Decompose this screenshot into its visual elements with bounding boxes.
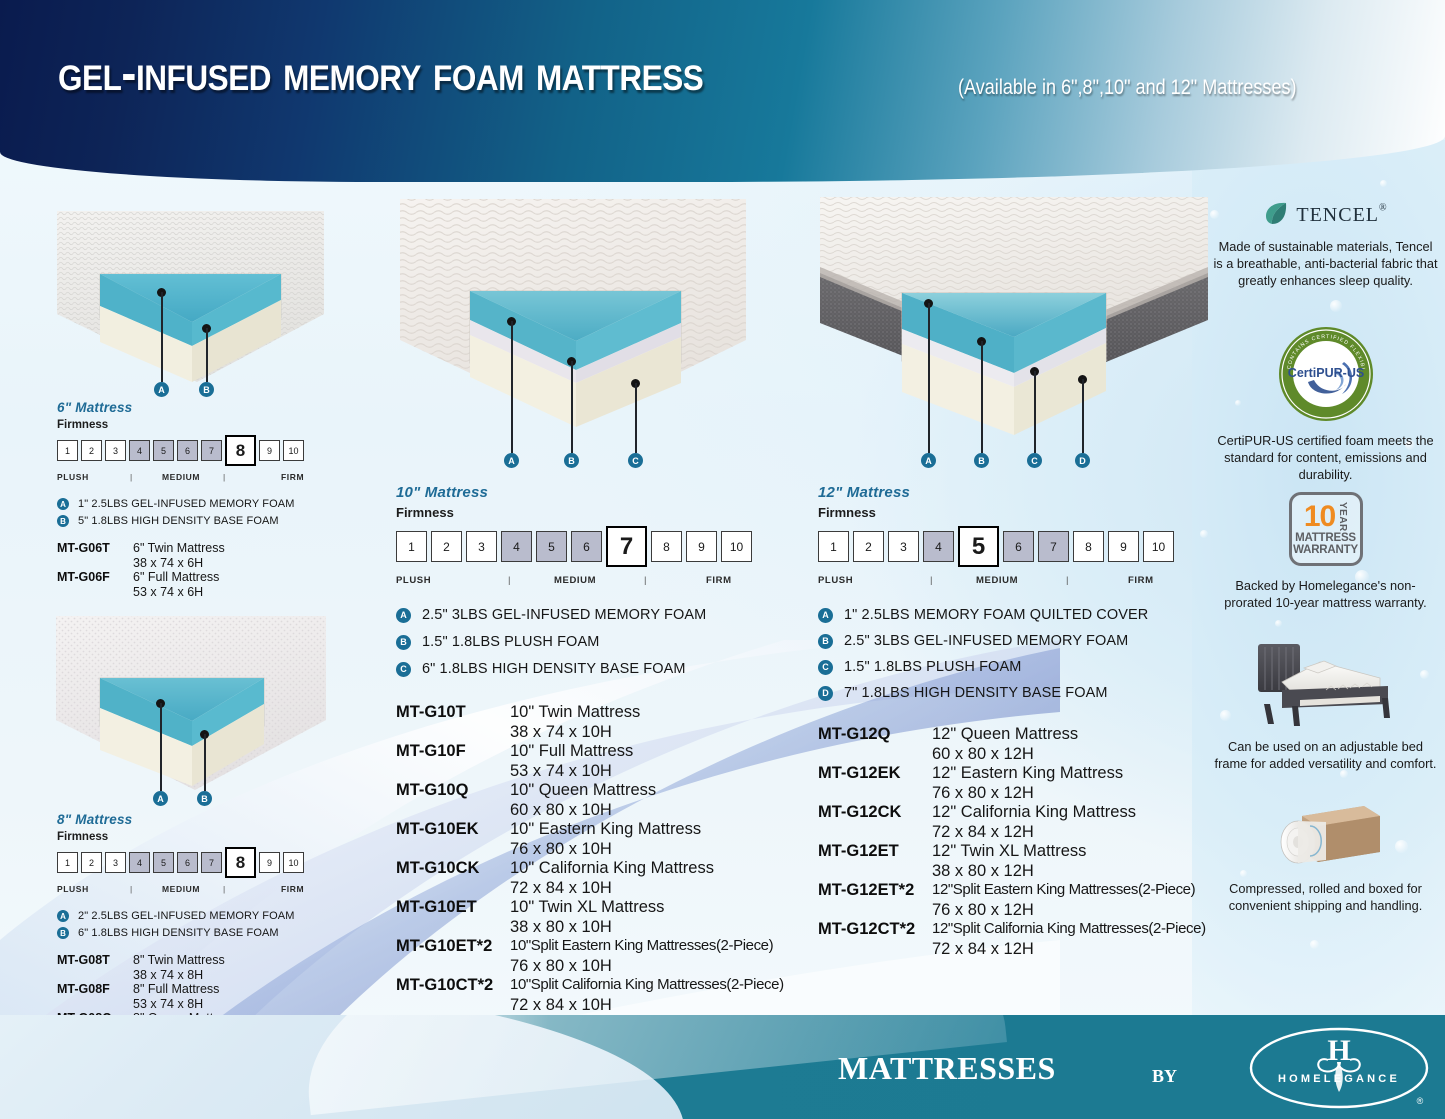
firmness-label-10: Firmness [396,505,796,520]
firmness-box-5[interactable]: 5 [153,440,174,461]
sku-desc: 10"Split California King Mattresses(2-Pi… [510,976,784,995]
table-row: MT-G10CK 10" California King Mattress [396,859,796,878]
legend-tick-1: | [130,884,133,894]
callouts-8: A B [52,608,330,823]
callouts-12: A B C D [818,195,1210,475]
adjustable-bed-image [1240,638,1412,730]
footer-by-label: by [1152,1059,1177,1089]
sku-dimensions: 72 x 84 x 12H [932,823,1218,842]
firmness-box-10[interactable]: 10 [283,440,304,461]
legend-firm: FIRM [1128,575,1154,586]
firmness-label-8: Firmness [57,831,357,843]
sku-dimensions: 76 x 80 x 12H [932,784,1218,803]
firmness-scale-8[interactable]: 1 2 3 4 5 6 7 8 9 10 [57,847,357,878]
sku-desc: 12" Queen Mattress [932,725,1078,744]
legend-plush: PLUSH [57,884,89,894]
layer-text: 1.5" 1.8LBS PLUSH FOAM [422,634,599,650]
layer-badge-c-icon: C [818,660,833,675]
sku-code: MT-G10CT*2 [396,976,510,995]
layer-text: 2.5" 3LBS GEL-INFUSED MEMORY FOAM [844,633,1128,649]
sku-dimensions: 60 x 80 x 10H [510,801,796,820]
sku-code: MT-G10EK [396,820,510,839]
sku-dimensions: 60 x 80 x 12H [932,745,1218,764]
firmness-box-1[interactable]: 1 [396,531,427,562]
sku-code: MT-G06F [57,570,133,584]
layer-list-6: A 1" 2.5LBS GEL-INFUSED MEMORY FOAM B 5"… [57,498,357,527]
sku-code: MT-G10T [396,703,510,722]
sku-desc: 12"Split Eastern King Mattresses(2-Piece… [932,881,1195,900]
legend-tick-1: | [930,575,933,586]
layer-row: B 6" 1.8LBS HIGH DENSITY BASE FOAM [57,927,357,939]
layer-badge-d-icon: D [818,686,833,701]
firmness-scale-10[interactable]: 1 2 3 4 5 6 7 8 9 10 [396,526,796,567]
firmness-box-6[interactable]: 6 [177,440,198,461]
firmness-label-6: Firmness [57,419,357,431]
table-row: MT-G12ET*2 12"Split Eastern King Mattres… [818,881,1218,900]
sku-code: MT-G12Q [818,725,932,744]
legend-plush: PLUSH [57,472,89,482]
tencel-description: Made of sustainable materials, Tencel is… [1213,238,1438,289]
callout-badge-a: A [153,791,168,806]
scale-legend-8: PLUSH | MEDIUM | FIRM [57,884,357,898]
legend-tick-1: | [130,472,133,482]
callout-badge-c: C [628,453,643,468]
firmness-box-5-selected[interactable]: 5 [958,526,999,567]
legend-tick-2: | [644,575,647,586]
warranty-number: 10 [1304,503,1335,530]
sku-dimensions: 38 x 80 x 12H [932,862,1218,881]
layer-list-12: A 1" 2.5LBS MEMORY FOAM QUILTED COVER B … [818,607,1218,701]
legend-medium: MEDIUM [162,884,200,894]
sku-code: MT-G12ET [818,842,932,861]
tencel-trademark: ® [1379,202,1388,213]
spec-title-12: 12" Mattress [818,484,1218,501]
sku-code: MT-G08T [57,953,133,967]
sku-dimensions: 53 x 74 x 6H [133,585,357,599]
page-title: Gel-Infused Memory Foam Mattress [58,44,703,102]
sku-desc: 10" Twin XL Mattress [510,898,664,917]
callout-badge-b: B [974,453,989,468]
layer-text: 1.5" 1.8LBS PLUSH FOAM [844,659,1021,675]
callout-badge-c: C [1027,453,1042,468]
layer-badge-a-icon: A [396,608,411,623]
firmness-box-8-selected[interactable]: 8 [225,847,256,878]
certipur-wordmark: CertiPUR-US [1287,366,1363,380]
sku-dimensions: 72 x 84 x 12H [932,940,1218,959]
firmness-box-2[interactable]: 2 [81,852,102,873]
warranty-description: Backed by Homelegance's non-prorated 10-… [1213,577,1438,611]
sku-dimensions: 38 x 74 x 8H [133,968,357,982]
layer-badge-a-icon: A [57,498,69,510]
sku-list-6: MT-G06T 6" Twin Mattress 38 x 74 x 6H MT… [57,541,357,599]
boxed-description: Compressed, rolled and boxed for conveni… [1213,880,1438,914]
sku-desc: 8" Twin Mattress [133,953,225,967]
table-row: MT-G12CT*2 12"Split California King Matt… [818,920,1218,939]
layer-text: 1" 2.5LBS GEL-INFUSED MEMORY FOAM [78,498,294,510]
sku-code: MT-G10F [396,742,510,761]
sku-code: MT-G12ET*2 [818,881,932,900]
table-row: MT-G12EK 12" Eastern King Mattress [818,764,1218,783]
layer-text: 6" 1.8LBS HIGH DENSITY BASE FOAM [78,927,279,939]
sku-code: MT-G12EK [818,764,932,783]
sku-list-12: MT-G12Q 12" Queen Mattress 60 x 80 x 12H… [818,725,1218,959]
table-row: MT-G10CT*2 10"Split California King Matt… [396,976,796,995]
layer-list-8: A 2" 2.5LBS GEL-INFUSED MEMORY FOAM B 6"… [57,910,357,939]
firmness-box-10[interactable]: 10 [283,852,304,873]
warranty-year: YEAR [1337,502,1347,532]
sku-code: MT-G10CK [396,859,510,878]
sidebar-warranty: 10 YEAR MATTRESS WARRANTY Backed by Home… [1213,492,1438,611]
spec-sheet-page: Gel-Infused Memory Foam Mattress (Availa… [0,0,1445,1119]
legend-firm: FIRM [706,575,732,586]
spec-title-6: 6" Mattress [57,400,357,415]
callout-badge-a: A [154,382,169,397]
leaf-icon [1263,200,1289,226]
firmness-box-1[interactable]: 1 [57,440,78,461]
spec-block-12: 12" Mattress Firmness 1 2 3 4 5 6 7 8 9 … [818,484,1218,959]
table-row: MT-G12Q 12" Queen Mattress [818,725,1218,744]
sku-dimensions: 76 x 80 x 10H [510,957,796,976]
warranty-badge: 10 YEAR MATTRESS WARRANTY [1289,492,1363,566]
legend-tick-1: | [508,575,511,586]
legend-firm: FIRM [281,472,304,482]
table-row: MT-G12CK 12" California King Mattress [818,803,1218,822]
firmness-box-6[interactable]: 6 [177,852,198,873]
layer-list-10: A 2.5" 3LBS GEL-INFUSED MEMORY FOAM B 1.… [396,607,796,677]
sku-dimensions: 72 x 84 x 10H [510,879,796,898]
callouts-6: A B [52,196,330,416]
logo-name-text: HOMELEGANCE [1278,1073,1400,1085]
legend-medium: MEDIUM [162,472,200,482]
legend-tick-2: | [223,472,226,482]
firmness-box-8[interactable]: 8 [651,531,682,562]
firmness-box-3[interactable]: 3 [888,531,919,562]
sku-code: MT-G12CK [818,803,932,822]
firmness-box-9[interactable]: 9 [686,531,717,562]
header-inner: Gel-Infused Memory Foam Mattress (Availa… [58,44,1398,102]
legend-medium: MEDIUM [554,575,596,586]
boxed-mattress-image [1264,800,1388,872]
sku-desc: 12" Eastern King Mattress [932,764,1123,783]
sku-dimensions: 38 x 74 x 10H [510,723,796,742]
firmness-box-2[interactable]: 2 [81,440,102,461]
layer-badge-c-icon: C [396,662,411,677]
legend-firm: FIRM [281,884,304,894]
firmness-box-8-selected[interactable]: 8 [225,435,256,466]
sku-desc: 6" Full Mattress [133,570,219,584]
sku-desc: 10"Split Eastern King Mattresses(2-Piece… [510,937,773,956]
table-row: MT-G06F 6" Full Mattress [57,570,357,584]
sku-code: MT-G08F [57,982,133,996]
layer-badge-b-icon: B [57,927,69,939]
firmness-box-4[interactable]: 4 [129,852,150,873]
spec-block-6: 6" Mattress Firmness 1 2 3 4 5 6 7 8 9 1… [57,400,357,599]
spec-block-10: 10" Mattress Firmness 1 2 3 4 5 6 7 8 9 … [396,484,796,1015]
firmness-box-5[interactable]: 5 [153,852,174,873]
layer-row: C 1.5" 1.8LBS PLUSH FOAM [818,659,1218,675]
layer-badge-a-icon: A [818,608,833,623]
callout-badge-a: A [921,453,936,468]
firmness-box-9[interactable]: 9 [1108,531,1139,562]
callout-badge-b: B [199,382,214,397]
sku-dimensions: 53 x 74 x 10H [510,762,796,781]
table-row: MT-G10Q 10" Queen Mattress [396,781,796,800]
firmness-box-7[interactable]: 7 [201,440,222,461]
firmness-box-3[interactable]: 3 [105,852,126,873]
firmness-box-9[interactable]: 9 [259,852,280,873]
scale-legend-10: PLUSH | MEDIUM | FIRM [396,575,796,589]
callout-badge-b: B [564,453,579,468]
warranty-line2: WARRANTY [1293,544,1358,556]
layer-row: B 5" 1.8LBS HIGH DENSITY BASE FOAM [57,515,357,527]
firmness-box-3[interactable]: 3 [466,531,497,562]
sidebar-tencel: Tencel® Made of sustainable materials, T… [1213,196,1438,289]
layer-text: 1" 2.5LBS MEMORY FOAM QUILTED COVER [844,607,1148,623]
footer-wordmark: Mattresses [838,1037,1056,1090]
layer-badge-a-icon: A [57,910,69,922]
table-row: MT-G10ET*2 10"Split Eastern King Mattres… [396,937,796,956]
legend-plush: PLUSH [818,575,853,586]
layer-text: 2.5" 3LBS GEL-INFUSED MEMORY FOAM [422,607,706,623]
layer-text: 2" 2.5LBS GEL-INFUSED MEMORY FOAM [78,910,294,922]
sku-code: MT-G10ET [396,898,510,917]
sku-dimensions: 38 x 74 x 6H [133,556,357,570]
sku-desc: 6" Twin Mattress [133,541,225,555]
table-row: MT-G08F 8" Full Mattress [57,982,357,996]
firmness-box-1[interactable]: 1 [818,531,849,562]
table-row: MT-G08T 8" Twin Mattress [57,953,357,967]
scale-legend-6: PLUSH | MEDIUM | FIRM [57,472,357,486]
firmness-box-2[interactable]: 2 [431,531,462,562]
page-subtitle: (Available in 6",8",10" and 12" Mattress… [958,76,1297,100]
legend-tick-2: | [223,884,226,894]
callout-badge-a: A [504,453,519,468]
layer-row: B 2.5" 3LBS GEL-INFUSED MEMORY FOAM [818,633,1218,649]
logo-registered-mark: ® [1417,1096,1424,1106]
firmness-scale-6[interactable]: 1 2 3 4 5 6 7 8 9 10 [57,435,357,466]
sku-dimensions: 72 x 84 x 10H [510,996,796,1015]
firmness-box-4[interactable]: 4 [501,531,532,562]
sku-desc: 12" Twin XL Mattress [932,842,1086,861]
certipur-badge: CONTAINS CERTIFIED FLEXIBLE POLYURETHANE… [1278,326,1374,422]
firmness-box-10[interactable]: 10 [1143,531,1174,562]
firmness-box-2[interactable]: 2 [853,531,884,562]
sku-code: MT-G10Q [396,781,510,800]
sku-desc: 10" Eastern King Mattress [510,820,701,839]
sku-desc: 12"Split California King Mattresses(2-Pi… [932,920,1206,939]
legend-plush: PLUSH [396,575,431,586]
firmness-box-7[interactable]: 7 [201,852,222,873]
table-row: MT-G06T 6" Twin Mattress [57,541,357,555]
sku-dimensions: 76 x 80 x 10H [510,840,796,859]
sku-desc: 8" Full Mattress [133,982,219,996]
layer-badge-b-icon: B [57,515,69,527]
firmness-box-7[interactable]: 7 [1038,531,1069,562]
warranty-line1: MATTRESS [1295,532,1356,544]
firmness-label-12: Firmness [818,505,1218,520]
layer-row: C 6" 1.8LBS HIGH DENSITY BASE FOAM [396,661,796,677]
sku-desc: 10" Twin Mattress [510,703,640,722]
spec-title-8: 8" Mattress [57,812,357,827]
table-row: MT-G12ET 12" Twin XL Mattress [818,842,1218,861]
layer-row: A 1" 2.5LBS MEMORY FOAM QUILTED COVER [818,607,1218,623]
tencel-wordmark: Tencel® [1296,196,1387,229]
firmness-box-1[interactable]: 1 [57,852,78,873]
firmness-box-3[interactable]: 3 [105,440,126,461]
firmness-box-10[interactable]: 10 [721,531,752,562]
tencel-logo: Tencel® [1213,196,1438,229]
firmness-box-9[interactable]: 9 [259,440,280,461]
layer-row: D 7" 1.8LBS HIGH DENSITY BASE FOAM [818,685,1218,701]
firmness-box-7-selected[interactable]: 7 [606,526,647,567]
callout-badge-b: B [197,791,212,806]
firmness-scale-12[interactable]: 1 2 3 4 5 6 7 8 9 10 [818,526,1218,567]
sku-desc: 10" Queen Mattress [510,781,656,800]
layer-text: 6" 1.8LBS HIGH DENSITY BASE FOAM [422,661,686,677]
sidebar-boxed: Compressed, rolled and boxed for conveni… [1213,800,1438,914]
layer-text: 5" 1.8LBS HIGH DENSITY BASE FOAM [78,515,279,527]
sku-desc: 10" Full Mattress [510,742,633,761]
sku-dimensions: 76 x 80 x 12H [932,901,1218,920]
legend-tick-2: | [1066,575,1069,586]
sku-desc: 10" California King Mattress [510,859,714,878]
callout-badge-d: D [1075,453,1090,468]
sku-code: MT-G12CT*2 [818,920,932,939]
firmness-box-4[interactable]: 4 [129,440,150,461]
firmness-box-8[interactable]: 8 [1073,531,1104,562]
callouts-10: A B C [398,195,748,475]
layer-row: B 1.5" 1.8LBS PLUSH FOAM [396,634,796,650]
table-row: MT-G10ET 10" Twin XL Mattress [396,898,796,917]
sku-desc: 12" California King Mattress [932,803,1136,822]
sku-code: MT-G06T [57,541,133,555]
page-footer: Mattresses by H HOMELEGANCE ® [0,1015,1445,1119]
sku-dimensions: 38 x 80 x 10H [510,918,796,937]
sku-list-10: MT-G10T 10" Twin Mattress 38 x 74 x 10H … [396,703,796,1015]
sidebar-certipur: CONTAINS CERTIFIED FLEXIBLE POLYURETHANE… [1213,326,1438,483]
firmness-box-5[interactable]: 5 [536,531,567,562]
layer-row: A 1" 2.5LBS GEL-INFUSED MEMORY FOAM [57,498,357,510]
adjustable-bed-description: Can be used on an adjustable bed frame f… [1213,738,1438,772]
table-row: MT-G10T 10" Twin Mattress [396,703,796,722]
layer-badge-b-icon: B [818,634,833,649]
page-header: Gel-Infused Memory Foam Mattress (Availa… [0,0,1445,182]
spec-title-10: 10" Mattress [396,484,796,501]
sku-code: MT-G10ET*2 [396,937,510,956]
warranty-badge-top: 10 YEAR [1304,502,1347,532]
layer-row: A 2" 2.5LBS GEL-INFUSED MEMORY FOAM [57,910,357,922]
scale-legend-12: PLUSH | MEDIUM | FIRM [818,575,1218,589]
table-row: MT-G10EK 10" Eastern King Mattress [396,820,796,839]
spec-block-8: 8" Mattress Firmness 1 2 3 4 5 6 7 8 9 1… [57,812,357,1040]
legend-medium: MEDIUM [976,575,1018,586]
homelegance-logo: H HOMELEGANCE ® [1248,1026,1430,1110]
certipur-description: CertiPUR-US certified foam meets the sta… [1213,432,1438,483]
sidebar-adjustable-bed: Can be used on an adjustable bed frame f… [1213,638,1438,772]
firmness-box-6[interactable]: 6 [1003,531,1034,562]
layer-text: 7" 1.8LBS HIGH DENSITY BASE FOAM [844,685,1108,701]
firmness-box-4[interactable]: 4 [923,531,954,562]
table-row: MT-G10F 10" Full Mattress [396,742,796,761]
sku-dimensions: 53 x 74 x 8H [133,997,357,1011]
layer-row: A 2.5" 3LBS GEL-INFUSED MEMORY FOAM [396,607,796,623]
layer-badge-b-icon: B [396,635,411,650]
firmness-box-6[interactable]: 6 [571,531,602,562]
